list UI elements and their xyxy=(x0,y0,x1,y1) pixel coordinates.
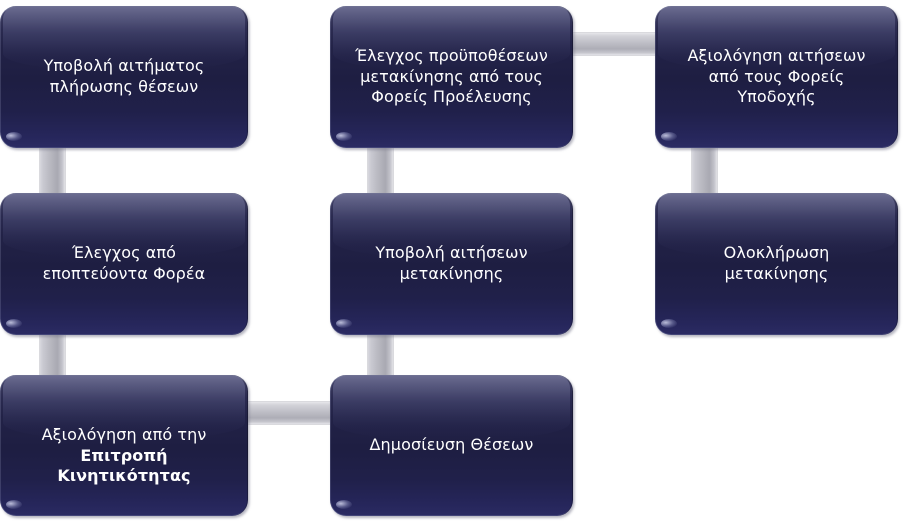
node-label: Αξιολόγηση από την Επιτροπή Κινητικότητα… xyxy=(32,404,217,487)
node-supervising-body-check[interactable]: Έλεγχος από εποπτεύοντα Φορέα xyxy=(0,193,248,335)
node-mobility-committee-evaluation[interactable]: Αξιολόγηση από την Επιτροπή Κινητικότητα… xyxy=(0,375,248,516)
node-label: Υποβολή αιτήσεων μετακίνησης xyxy=(365,243,537,285)
node-label: Υποβολή αιτήματος πλήρωσης θέσεων xyxy=(34,56,215,98)
node-check-transfer-conditions[interactable]: Έλεγχος προϋποθέσεων μετακίνησης από του… xyxy=(330,6,573,148)
connector-n8-n5 xyxy=(368,333,393,377)
connector-n3-n6 xyxy=(692,146,717,194)
node-evaluate-applications-host[interactable]: Αξιολόγηση αιτήσεων από τους Φορείς Υποδ… xyxy=(655,6,898,148)
node-label: Έλεγχος προϋποθέσεων μετακίνησης από του… xyxy=(345,46,558,108)
node-label: Δημοσίευση Θέσεων xyxy=(360,435,544,456)
connector-n4-n7 xyxy=(40,333,65,377)
node-publish-positions[interactable]: Δημοσίευση Θέσεων xyxy=(330,375,573,516)
flowchart-canvas: Υποβολή αιτήματος πλήρωσης θέσεων Έλεγχο… xyxy=(0,0,907,521)
connector-n5-n2 xyxy=(368,146,393,194)
node-label: Ολοκλήρωση μετακίνησης xyxy=(714,243,840,285)
node-label-plain: Αξιολόγηση από την xyxy=(42,425,207,444)
node-complete-transfer[interactable]: Ολοκλήρωση μετακίνησης xyxy=(655,193,898,335)
node-label: Έλεγχος από εποπτεύοντα Φορέα xyxy=(33,243,216,285)
node-label: Αξιολόγηση αιτήσεων από τους Φορείς Υποδ… xyxy=(677,46,875,108)
node-submit-transfer-applications[interactable]: Υποβολή αιτήσεων μετακίνησης xyxy=(330,193,573,335)
connector-n7-n8 xyxy=(244,402,334,424)
node-submit-staffing-request[interactable]: Υποβολή αιτήματος πλήρωσης θέσεων xyxy=(0,6,248,148)
node-label-bold: Επιτροπή Κινητικότητας xyxy=(57,446,190,486)
connector-n2-n3 xyxy=(568,33,660,55)
connector-n1-n4 xyxy=(40,146,65,194)
